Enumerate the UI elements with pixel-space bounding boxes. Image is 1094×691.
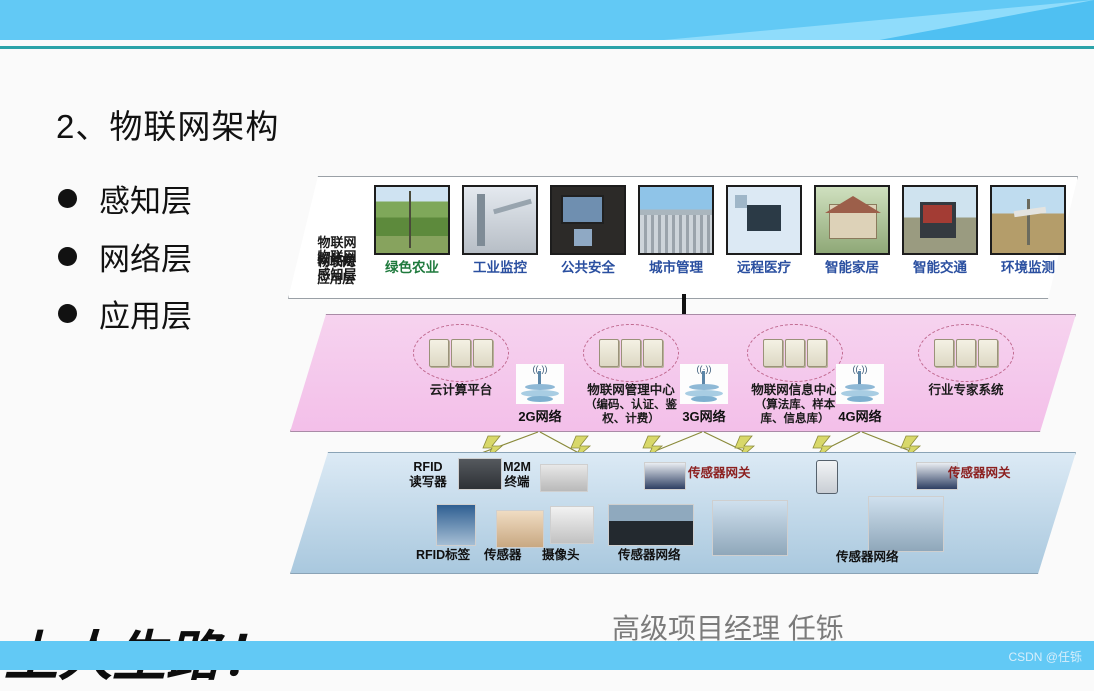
application-layer-items: 绿色农业 工业监控 公共安全 城市管理 远程医疗 智能家居 智能交通 环境监测 (374, 185, 1066, 275)
app-item-environment-monitoring: 环境监测 (990, 185, 1066, 275)
rfid-tag-device-icon (436, 504, 476, 546)
antenna-tower-icon: ((·)) (836, 364, 884, 404)
m2m-label-line2: 终端 (492, 475, 542, 490)
server-cluster-icon (918, 324, 1014, 382)
antenna-tower-icon: ((·)) (516, 364, 564, 404)
public-safety-photo-icon (550, 185, 626, 255)
app-item-smart-transport: 智能交通 (902, 185, 978, 275)
bullet-label: 应用层 (99, 291, 192, 336)
app-item-remote-medical: 远程医疗 (726, 185, 802, 275)
sense-item-m2m-terminal: M2M 终端 (492, 460, 542, 490)
top-banner (0, 0, 1094, 40)
sensor-device-icon (496, 510, 544, 548)
camera-label: 摄像头 (542, 548, 580, 563)
sensor-network-label: 传感器网络 (618, 548, 681, 563)
csdn-watermark: CSDN @任铄 (1008, 648, 1082, 665)
app-item-label: 环境监测 (990, 260, 1066, 275)
sensing-layer-label: 物联网 感知层 (300, 248, 374, 284)
app-item-green-agriculture: 绿色农业 (374, 185, 450, 275)
antenna-tower-icon: ((·)) (680, 364, 728, 404)
bullet-label: 感知层 (99, 176, 192, 221)
bullet-item-network: 网络层 (58, 234, 192, 279)
iot-architecture-diagram: 物联网 应用层 绿色农业 工业监控 公共安全 城市管理 远程医疗 智能家居 (288, 176, 1078, 576)
tower-2g: ((·)) 2G网络 (506, 364, 574, 425)
tower-label: 3G网络 (670, 406, 738, 425)
page-title: 2、物联网架构 (56, 100, 279, 148)
rfid-reader-label-line2: 读写器 (400, 475, 456, 490)
sensor-label: 传感器 (484, 548, 522, 563)
app-item-label: 智能交通 (902, 260, 978, 275)
tower-label: 4G网络 (826, 406, 894, 425)
sensor-gateway-label: 传感器网关 (688, 466, 751, 481)
sensor-network-label-2: 传感器网络 (836, 550, 899, 565)
bullet-dot-icon (58, 304, 77, 323)
bullet-dot-icon (58, 189, 77, 208)
app-item-label: 远程医疗 (726, 260, 802, 275)
tower-4g: ((·)) 4G网络 (826, 364, 894, 425)
vehicle-network-photo-icon (608, 504, 694, 546)
green-agriculture-photo-icon (374, 185, 450, 255)
tower-label: 2G网络 (506, 406, 574, 425)
app-item-public-safety: 公共安全 (550, 185, 626, 275)
tower-3g: ((·)) 3G网络 (670, 364, 738, 425)
bullet-item-application: 应用层 (58, 291, 192, 336)
app-item-industrial-monitoring: 工业监控 (462, 185, 538, 275)
sensor-network-photo-icon-2 (868, 496, 944, 552)
environment-monitoring-photo-icon (990, 185, 1066, 255)
app-item-smart-home: 智能家居 (814, 185, 890, 275)
bullet-label: 网络层 (99, 234, 192, 279)
bottom-bar (0, 641, 1094, 670)
city-management-photo-icon (638, 185, 714, 255)
m2m-label-line1: M2M (492, 460, 542, 475)
rfid-tag-label: RFID标签 (416, 548, 470, 563)
camera-device-icon (550, 506, 594, 544)
bullet-dot-icon (58, 247, 77, 266)
m2m-terminal-device-icon (540, 464, 588, 492)
app-item-label: 城市管理 (638, 260, 714, 275)
server-cluster-icon (583, 324, 679, 382)
app-item-label: 绿色农业 (374, 260, 450, 275)
app-item-label: 公共安全 (550, 260, 626, 275)
sensor-gateway-label-2: 传感器网关 (948, 466, 1011, 481)
app-item-label: 工业监控 (462, 260, 538, 275)
app-item-city-management: 城市管理 (638, 185, 714, 275)
bullet-item-perception: 感知层 (58, 176, 192, 221)
server-cluster-icon (413, 324, 509, 382)
teal-divider-rule (0, 46, 1094, 49)
smart-home-photo-icon (814, 185, 890, 255)
industrial-monitoring-photo-icon (462, 185, 538, 255)
app-item-label: 智能家居 (814, 260, 890, 275)
smart-transport-photo-icon (902, 185, 978, 255)
sensor-gateway-device-icon (816, 460, 838, 494)
sense-item-rfid-reader: RFID 读写器 (400, 460, 456, 490)
remote-medical-photo-icon (726, 185, 802, 255)
sensor-gateway-router-icon (644, 462, 686, 490)
cloud-node-expert-system: 行业专家系统 (896, 324, 1036, 398)
rfid-reader-label-line1: RFID (400, 460, 456, 475)
sensor-network-photo-icon (712, 500, 788, 556)
cloud-node-label: 行业专家系统 (896, 383, 1036, 398)
